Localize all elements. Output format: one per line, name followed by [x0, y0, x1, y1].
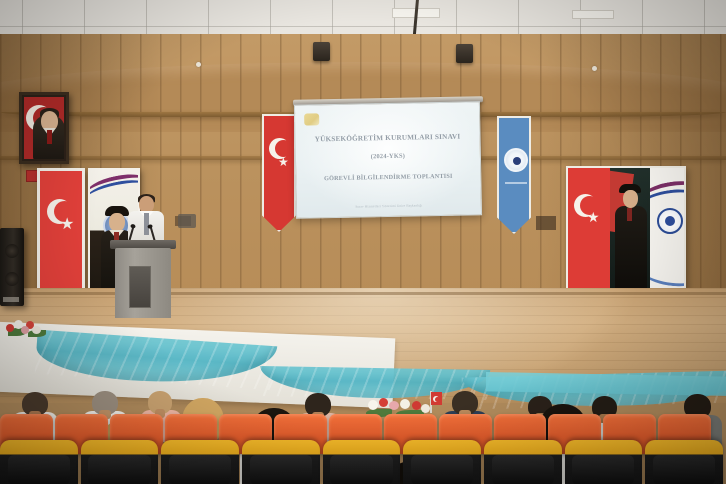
speaker-cone-upper	[5, 244, 19, 258]
wall-speaker-left	[313, 42, 330, 61]
floral-arrangement-left	[6, 317, 52, 339]
auditorium-seat[interactable]	[81, 440, 159, 484]
auditorium-seat[interactable]	[403, 440, 481, 484]
speaker-brand-label	[3, 297, 19, 302]
slide-corner-logo-icon	[304, 113, 319, 125]
star-icon: ★	[587, 210, 600, 224]
auditorium-seat[interactable]	[242, 440, 320, 484]
stage-chair	[178, 214, 196, 228]
presenter-head	[139, 196, 154, 213]
turkish-flag-banner-left: ★	[37, 168, 85, 296]
star-icon: ★	[60, 217, 74, 233]
flower-red	[412, 401, 421, 410]
star-icon: ★	[278, 156, 289, 168]
auditorium-seat[interactable]	[645, 440, 723, 484]
pa-loudspeaker	[0, 228, 24, 306]
crescent-icon	[433, 396, 439, 402]
wall-speaker-right	[456, 44, 473, 63]
ceiling-light-2	[572, 10, 614, 19]
blue-pennant	[497, 116, 531, 234]
seal-arc-light	[650, 232, 684, 291]
mic-head-icon	[147, 224, 153, 229]
auditorium-seat[interactable]	[484, 440, 562, 484]
portrait-tie	[47, 130, 52, 144]
flower-red	[6, 324, 14, 332]
wall-recess-right	[536, 216, 556, 230]
pennant-rule	[505, 182, 527, 184]
portrait-inner	[24, 97, 64, 159]
auditorium-seat[interactable]	[323, 440, 401, 484]
seal-icon	[504, 148, 528, 172]
flower-white	[32, 326, 41, 334]
slide-body-text: GÖREVLİ BİLGİLENDİRME TOPLANTISI	[296, 172, 480, 183]
red-pennant: ★	[262, 114, 296, 232]
turkish-flag-panel: ★	[568, 168, 610, 294]
panel-figure-face	[623, 190, 638, 208]
flower-white	[400, 399, 410, 409]
flag-cloth	[431, 392, 442, 405]
flower-pink	[21, 326, 29, 334]
figure-face	[109, 213, 125, 232]
panel-figure-tie	[627, 208, 632, 221]
flower-red	[379, 398, 388, 407]
flower-pink	[389, 401, 399, 410]
flower-white	[368, 400, 378, 410]
auditorium-seat[interactable]	[565, 440, 643, 484]
slide-footer: Sınav Hizmetleri Yönetimi Daire Başkanlı…	[297, 202, 481, 210]
university-seal-panel	[650, 168, 684, 294]
auditorium-seat[interactable]	[0, 440, 78, 484]
seat-row-yellow[interactable]	[0, 440, 726, 484]
wall-fixture-dot-2	[592, 66, 597, 71]
podium-body	[115, 248, 171, 318]
framed-ataturk-portrait	[19, 92, 69, 164]
auditorium-seat[interactable]	[161, 440, 239, 484]
slide-subtitle: (2024-YKS)	[296, 151, 480, 162]
right-banner-triptych: ★	[566, 166, 686, 296]
slide-title: YÜKSEKÖĞRETİM KURUMLARI SINAVI	[296, 132, 480, 144]
ataturk-photo-panel	[610, 168, 650, 294]
turkish-table-flag	[430, 391, 442, 413]
university-seal-icon	[657, 208, 683, 234]
wall-fixture-dot-1	[196, 62, 201, 67]
podium-front-panel	[129, 266, 151, 308]
stage-edge-line	[0, 292, 726, 295]
auditorium-scene: ★ ★	[0, 0, 726, 484]
presenter-at-podium	[128, 196, 164, 244]
flower-white	[421, 404, 430, 413]
speaker-podium	[112, 240, 174, 318]
speaker-cone-lower	[5, 272, 19, 286]
projection-screen[interactable]: YÜKSEKÖĞRETİM KURUMLARI SINAVI (2024-YKS…	[294, 101, 482, 219]
